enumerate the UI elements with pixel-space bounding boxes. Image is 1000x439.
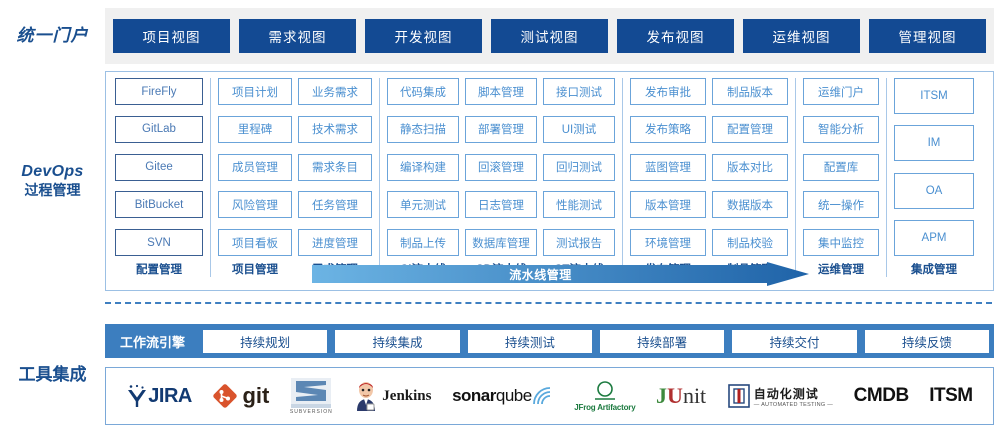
jira-glyph-icon: [126, 384, 148, 408]
sonarqube-wordmark: sonarqube: [452, 386, 532, 406]
capability-cell[interactable]: FireFly: [115, 78, 203, 105]
capability-cell[interactable]: 回归测试: [543, 154, 615, 181]
capability-column-title: 集成管理: [894, 256, 974, 277]
capability-cell[interactable]: 配置库: [803, 154, 879, 181]
capability-group-6: ITSMIMOAAPM: [886, 78, 977, 256]
capability-cell[interactable]: BitBucket: [115, 191, 203, 218]
capability-cell[interactable]: 部署管理: [465, 116, 537, 143]
devops-capability-panel: FireFlyGitLabGiteeBitBucketSVN项目计划里程碑成员管…: [105, 71, 994, 291]
tool-logo-strip: JIRAgitSUBVERSIONJenkinssonarqubeJFrog A…: [105, 367, 994, 425]
capability-group-1: FireFlyGitLabGiteeBitBucketSVN: [112, 78, 206, 256]
capability-cell[interactable]: OA: [894, 173, 974, 209]
capability-cell[interactable]: 任务管理: [298, 191, 372, 218]
jfrog-ring-icon: [593, 380, 617, 402]
workflow-stage-6[interactable]: 持续反馈: [865, 330, 989, 353]
workflow-stage-2[interactable]: 持续集成: [335, 330, 459, 353]
capability-cell[interactable]: Gitee: [115, 154, 203, 181]
capability-column-title: 项目管理: [218, 256, 292, 277]
portal-button-7[interactable]: 管理视图: [869, 19, 986, 53]
devops-section-label: DevOps 过程管理: [0, 162, 105, 200]
capability-cell[interactable]: 制品版本: [712, 78, 788, 105]
capability-cell[interactable]: 里程碑: [218, 116, 292, 143]
tool-integration-content: 工作流引擎 持续规划持续集成持续测试持续部署持续交付持续反馈 JIRAgitSU…: [105, 324, 994, 425]
portal-button-5[interactable]: 发布视图: [617, 19, 734, 53]
sonarqube-waves-icon: [532, 386, 554, 406]
automated-testing-glyph-icon: [727, 383, 751, 409]
jira-logo: JIRA: [126, 384, 192, 408]
workflow-stage-5[interactable]: 持续交付: [732, 330, 856, 353]
portal-button-2[interactable]: 需求视图: [239, 19, 356, 53]
devops-label-cn: 过程管理: [0, 182, 105, 200]
devops-process-section: DevOps 过程管理 FireFlyGitLabGiteeBitBucketS…: [0, 70, 1000, 292]
automated-testing-en: — AUTOMATED TESTING —: [754, 402, 833, 408]
portal-button-1[interactable]: 项目视图: [113, 19, 230, 53]
capability-cell[interactable]: 静态扫描: [387, 116, 459, 143]
capability-cell[interactable]: 集中监控: [803, 229, 879, 256]
capability-cell[interactable]: 风险管理: [218, 191, 292, 218]
pipeline-arrow-label: 流水线管理: [312, 262, 809, 286]
portal-button-4[interactable]: 测试视图: [491, 19, 608, 53]
unified-portal-label: 统一门户: [0, 25, 105, 46]
portal-button-3[interactable]: 开发视图: [365, 19, 482, 53]
workflow-stage-4[interactable]: 持续部署: [600, 330, 724, 353]
git-glyph-icon: [212, 383, 238, 409]
capability-group-titles-6: 集成管理: [886, 256, 977, 277]
capability-cell[interactable]: 成员管理: [218, 154, 292, 181]
git-wordmark: git: [242, 383, 269, 409]
capability-cell[interactable]: 统一操作: [803, 191, 879, 218]
jenkins-butler-icon: [353, 381, 379, 411]
capability-cell[interactable]: 代码集成: [387, 78, 459, 105]
capability-cell[interactable]: 进度管理: [298, 229, 372, 256]
capability-cell[interactable]: 编译构建: [387, 154, 459, 181]
capability-cell[interactable]: 性能测试: [543, 191, 615, 218]
unified-portal-section: 统一门户 项目视图需求视图开发视图测试视图发布视图运维视图管理视图: [0, 5, 1000, 67]
capability-cell[interactable]: 业务需求: [298, 78, 372, 105]
subversion-wordmark: SUBVERSION: [290, 409, 333, 415]
capability-cell[interactable]: 日志管理: [465, 191, 537, 218]
capability-cell[interactable]: 数据库管理: [465, 229, 537, 256]
cmdb-wordmark: CMDB: [854, 385, 909, 407]
capability-column-CT流水线: 接口测试UI测试回归测试性能测试测试报告: [540, 78, 618, 256]
subversion-logo: SUBVERSION: [290, 378, 333, 415]
capability-column-需求管理: 业务需求技术需求需求条目任务管理进度管理: [295, 78, 375, 256]
capability-column-CD流水线: 脚本管理部署管理回滚管理日志管理数据库管理: [462, 78, 540, 256]
junit-logo: JUnit: [656, 383, 706, 409]
git-logo: git: [212, 383, 269, 409]
automated-testing-text: 自动化测试— AUTOMATED TESTING —: [754, 385, 833, 408]
capability-cell[interactable]: 版本管理: [630, 191, 706, 218]
capability-cell[interactable]: 发布审批: [630, 78, 706, 105]
capability-cell[interactable]: 版本对比: [712, 154, 788, 181]
capability-cell[interactable]: 制品上传: [387, 229, 459, 256]
portal-button-bar: 项目视图需求视图开发视图测试视图发布视图运维视图管理视图: [105, 8, 994, 64]
jfrog-wordmark: JFrog Artifactory: [574, 403, 635, 412]
capability-cell[interactable]: 接口测试: [543, 78, 615, 105]
capability-column-集成管理: ITSMIMOAAPM: [891, 78, 977, 256]
automated-testing-cn: 自动化测试: [754, 385, 833, 402]
jenkins-logo: Jenkins: [353, 381, 431, 411]
capability-column-项目管理: 项目计划里程碑成员管理风险管理项目看板: [215, 78, 295, 256]
capability-cell[interactable]: 运维门户: [803, 78, 879, 105]
capability-column-运维管理: 运维门户智能分析配置库统一操作集中监控: [800, 78, 882, 256]
jfrog-artifactory-logo: JFrog Artifactory: [574, 380, 635, 412]
capability-cell[interactable]: 发布策略: [630, 116, 706, 143]
capability-group-2: 项目计划里程碑成员管理风险管理项目看板业务需求技术需求需求条目任务管理进度管理: [210, 78, 375, 256]
capability-column-title-wrap: 项目管理: [215, 256, 295, 277]
capability-column-title: 配置管理: [115, 256, 203, 277]
capability-cell[interactable]: 技术需求: [298, 116, 372, 143]
capability-group-3: 代码集成静态扫描编译构建单元测试制品上传脚本管理部署管理回滚管理日志管理数据库管…: [379, 78, 618, 256]
capability-group-titles-1: 配置管理: [112, 256, 206, 277]
capability-column-CI流水线: 代码集成静态扫描编译构建单元测试制品上传: [384, 78, 462, 256]
capability-group-4: 发布审批发布策略蓝图管理版本管理环境管理制品版本配置管理版本对比数据版本制品校验: [622, 78, 791, 256]
capability-cell[interactable]: 单元测试: [387, 191, 459, 218]
tool-integration-section: 工具集成 工作流引擎 持续规划持续集成持续测试持续部署持续交付持续反馈 JIRA…: [0, 312, 1000, 437]
sonarqube-logo: sonarqube: [452, 386, 554, 406]
capability-cell[interactable]: 项目看板: [218, 229, 292, 256]
cmdb-logo: CMDB: [854, 385, 909, 407]
capability-cell[interactable]: IM: [894, 125, 974, 161]
capability-cell[interactable]: 回滚管理: [465, 154, 537, 181]
capability-cell[interactable]: 制品校验: [712, 229, 788, 256]
capability-column-title-wrap: 集成管理: [891, 256, 977, 277]
capability-cell[interactable]: 测试报告: [543, 229, 615, 256]
capability-group-5: 运维门户智能分析配置库统一操作集中监控: [795, 78, 882, 256]
capability-column-title-wrap: 配置管理: [112, 256, 206, 277]
capability-cell[interactable]: ITSM: [894, 78, 974, 114]
devops-capability-grid: FireFlyGitLabGiteeBitBucketSVN项目计划里程碑成员管…: [112, 78, 987, 256]
capability-cell[interactable]: 脚本管理: [465, 78, 537, 105]
tool-integration-label: 工具集成: [0, 364, 105, 385]
workflow-engine-bar: 工作流引擎 持续规划持续集成持续测试持续部署持续交付持续反馈: [105, 324, 994, 358]
capability-cell[interactable]: 项目计划: [218, 78, 292, 105]
capability-column-制品管理: 制品版本配置管理版本对比数据版本制品校验: [709, 78, 791, 256]
jira-wordmark: JIRA: [148, 385, 192, 408]
capability-cell[interactable]: GitLab: [115, 116, 203, 143]
capability-cell[interactable]: 数据版本: [712, 191, 788, 218]
junit-wordmark: JUnit: [656, 383, 706, 409]
portal-button-6[interactable]: 运维视图: [743, 19, 860, 53]
capability-cell[interactable]: 配置管理: [712, 116, 788, 143]
itsm-wordmark: ITSM: [929, 385, 972, 407]
subversion-glyph-icon: [290, 378, 332, 408]
itsm-logo: ITSM: [929, 385, 972, 407]
devops-label-en: DevOps: [0, 162, 105, 182]
workflow-stage-1[interactable]: 持续规划: [203, 330, 327, 353]
automated-testing-logo: 自动化测试— AUTOMATED TESTING —: [727, 383, 833, 409]
capability-column-发布管理: 发布审批发布策略蓝图管理版本管理环境管理: [627, 78, 709, 256]
capability-column-title-wrap: 运维管理: [800, 256, 882, 277]
capability-cell[interactable]: 蓝图管理: [630, 154, 706, 181]
capability-cell[interactable]: 环境管理: [630, 229, 706, 256]
capability-cell[interactable]: APM: [894, 220, 974, 256]
capability-column-配置管理: FireFlyGitLabGiteeBitBucketSVN: [112, 78, 206, 256]
section-divider: [105, 302, 992, 304]
capability-cell[interactable]: UI测试: [543, 116, 615, 143]
jenkins-wordmark: Jenkins: [382, 388, 431, 405]
workflow-engine-title: 工作流引擎: [110, 332, 195, 351]
capability-cell[interactable]: 需求条目: [298, 154, 372, 181]
workflow-stage-3[interactable]: 持续测试: [468, 330, 592, 353]
capability-cell[interactable]: SVN: [115, 229, 203, 256]
capability-cell[interactable]: 智能分析: [803, 116, 879, 143]
pipeline-arrow: 流水线管理: [312, 262, 809, 286]
capability-column-title: 运维管理: [803, 256, 879, 277]
